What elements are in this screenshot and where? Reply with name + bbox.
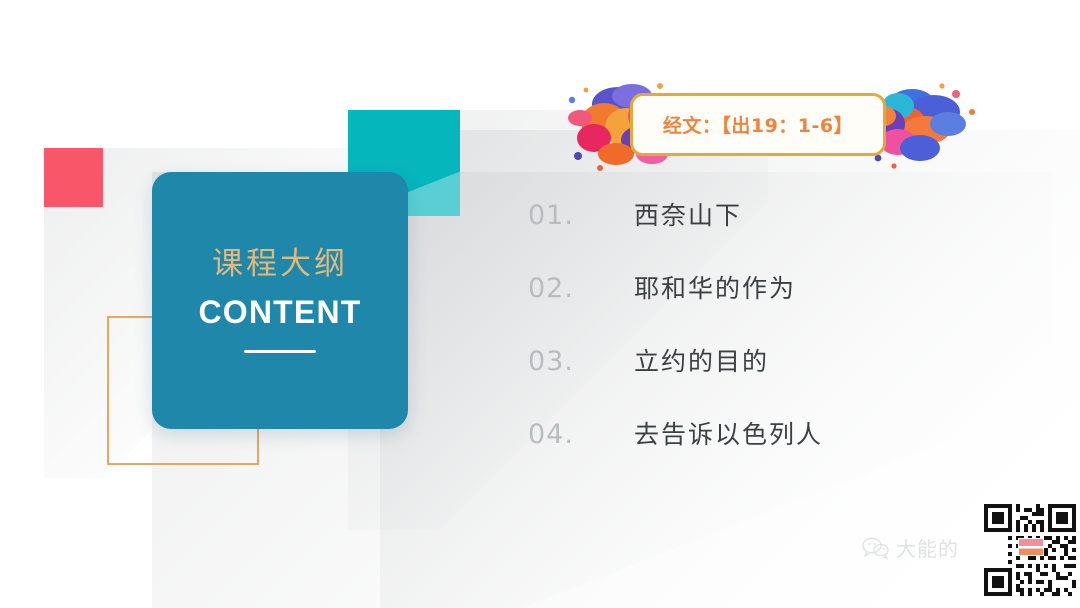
content-title-chinese: 课程大纲 (212, 249, 348, 280)
list-item-label: 西奈山下 (634, 196, 742, 232)
wechat-account-name: 大能的 (896, 533, 959, 562)
content-title-divider (244, 350, 316, 353)
scripture-banner: 经文：【出19：1-6】 (630, 93, 886, 156)
list-item-label: 去告诉以色列人 (634, 415, 823, 451)
list-item-number: 02. (528, 273, 634, 304)
list-item-number: 03. (528, 346, 634, 377)
list-item-number: 01. (528, 200, 634, 231)
list-item-label: 耶和华的作为 (634, 269, 796, 305)
list-item-label: 立约的目的 (634, 342, 769, 378)
outline-list: 01. 西奈山下 02. 耶和华的作为 03. 立约的目的 04. 去告诉以色列… (528, 196, 1008, 488)
wechat-icon (862, 536, 890, 560)
list-item[interactable]: 04. 去告诉以色列人 (528, 415, 1008, 488)
list-item[interactable]: 02. 耶和华的作为 (528, 269, 1008, 342)
red-square-decoration (44, 148, 103, 207)
content-title-english: CONTENT (198, 296, 361, 328)
list-item-number: 04. (528, 419, 634, 450)
slide-canvas: 课程大纲 CONTENT (0, 0, 1080, 608)
list-item[interactable]: 01. 西奈山下 (528, 196, 1008, 269)
content-title-card: 课程大纲 CONTENT (152, 172, 408, 429)
wechat-watermark: 大能的 (862, 533, 959, 562)
scripture-banner-text: 经文：【出19：1-6】 (663, 111, 853, 138)
list-item[interactable]: 03. 立约的目的 (528, 342, 1008, 415)
scripture-banner-group: 经文：【出19：1-6】 (560, 60, 990, 176)
qr-code-center-logo (1018, 538, 1044, 556)
